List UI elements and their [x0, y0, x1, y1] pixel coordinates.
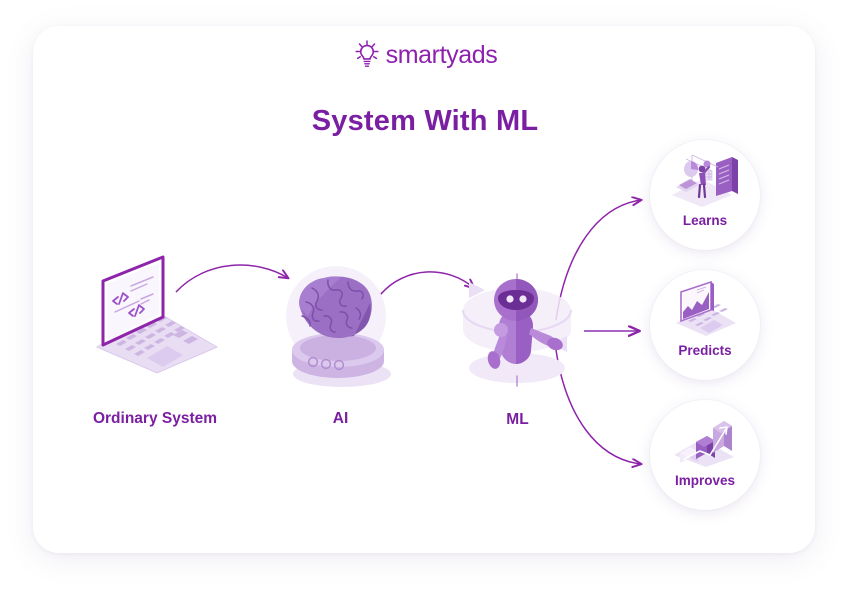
brand-logo[interactable]: smartyads — [0, 40, 850, 70]
brand-name: smartyads — [386, 41, 498, 70]
outcome-card-predicts[interactable]: Predicts — [650, 270, 760, 380]
laptop-chart-icon — [666, 281, 744, 339]
page-title: System With ML — [0, 105, 850, 138]
lightbulb-icon — [353, 40, 381, 70]
flow-node-label-ml: ML — [506, 411, 528, 429]
flow-node-ordinary-system[interactable]: Ordinary System — [85, 255, 225, 375]
outcome-label-learns: Learns — [683, 213, 727, 228]
outcome-card-learns[interactable]: Learns — [650, 140, 760, 250]
flow-node-ai[interactable]: AI — [278, 258, 403, 390]
laptop-code-icon — [85, 255, 225, 375]
flow-node-label-ordinary-system: Ordinary System — [93, 410, 217, 428]
outcome-card-improves[interactable]: Improves — [650, 400, 760, 510]
robot-icon — [455, 268, 580, 393]
whiteboard-learning-icon — [666, 151, 744, 209]
outcome-label-predicts: Predicts — [678, 343, 731, 358]
bar-growth-icon — [666, 411, 744, 469]
brain-pedestal-icon — [278, 258, 403, 390]
outcome-label-improves: Improves — [675, 473, 735, 488]
flow-node-label-ai: AI — [333, 410, 349, 428]
infographic-stage: smartyads System With ML — [0, 0, 850, 590]
flow-node-ml[interactable]: ML — [455, 268, 580, 393]
